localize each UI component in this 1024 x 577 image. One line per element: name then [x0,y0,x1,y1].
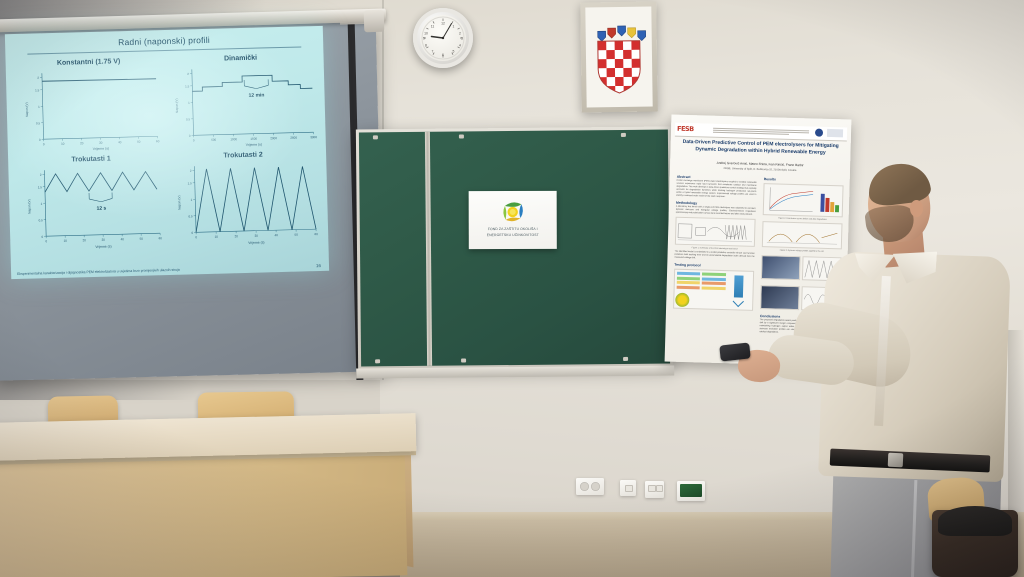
poster-methodology-text: A laboratory test bench with a single-ce… [676,206,756,217]
svg-text:60: 60 [314,232,318,236]
presenter-belt-buckle [888,453,904,468]
svg-text:10: 10 [61,142,65,146]
chart-konstantni: 0 0.5 1 1.5 2 0 10 20 30 40 50 60 Vrijem… [20,66,164,154]
clock-face: 1212 345 678 91011 [420,15,466,61]
svg-text:Vrijeme (s): Vrijeme (s) [248,240,264,244]
svg-text:0.5: 0.5 [188,214,193,218]
poster-figure-1 [675,217,756,247]
svg-text:1: 1 [453,25,455,29]
svg-text:0: 0 [193,138,195,142]
fond-text-line-2: ENERGETSKU UČINKOVITOST [469,233,557,237]
svg-text:12 s: 12 s [97,206,107,212]
svg-text:40: 40 [118,140,122,144]
svg-text:2000: 2000 [270,136,277,140]
svg-text:8: 8 [425,44,427,48]
clock-minute-hand [443,24,452,39]
svg-text:7: 7 [432,50,434,54]
svg-text:Vrijeme (s): Vrijeme (s) [246,143,262,147]
svg-text:50: 50 [137,140,141,144]
svg-text:2500: 2500 [290,136,297,140]
presenter-ear [910,200,923,217]
svg-text:0: 0 [195,235,197,239]
svg-text:1.5: 1.5 [188,181,193,185]
svg-text:6: 6 [442,53,444,57]
fond-text-line-1: FOND ZA ZAŠTITU OKOLIŠA I [469,227,557,231]
desk-front-panel [0,447,407,577]
fesb-logo: FESB [677,125,694,133]
chart-trokutasti-2: 0 0.5 1 1.5 2 0 10 20 30 40 50 60 Vrijem… [172,159,322,249]
chalkboard-divider [425,132,432,366]
svg-text:40: 40 [121,237,125,241]
svg-text:1: 1 [38,105,40,109]
svg-text:2: 2 [40,173,42,177]
green-indicator-panel[interactable] [677,481,705,501]
svg-text:1: 1 [188,101,190,105]
green-indicator-screen [680,484,702,497]
wall-clock: 1212 345 678 91011 [413,8,473,68]
svg-text:4: 4 [459,44,461,48]
svg-text:30: 30 [254,234,258,238]
screen-bracket [364,10,385,33]
chalkboard-surface: FOND ZA ZAŠTITU OKOLIŠA I ENERGETSKU UČI… [359,130,670,367]
poster-title: Data-Driven Predictive Control of PEM el… [677,139,843,157]
poster-abstract-text: Proton exchange membrane (PEM) water ele… [676,180,756,200]
double-power-socket[interactable] [576,478,604,495]
svg-text:2: 2 [190,169,192,173]
svg-text:1: 1 [41,202,43,206]
svg-text:3: 3 [461,37,463,41]
svg-text:Napon (V): Napon (V) [27,199,31,214]
svg-text:50: 50 [294,233,298,237]
svg-text:0.5: 0.5 [186,117,191,121]
svg-text:0.5: 0.5 [39,218,44,222]
single-socket[interactable] [620,480,636,496]
croatian-coat-of-arms-icon [585,7,652,108]
coat-of-arms-frame [580,1,658,112]
chalkboard: FOND ZA ZAŠTITU OKOLIŠA I ENERGETSKU UČI… [356,126,673,369]
svg-text:0: 0 [45,239,47,243]
svg-text:0: 0 [189,134,191,138]
svg-text:1.5: 1.5 [35,88,40,92]
svg-text:Vrijeme (s): Vrijeme (s) [93,147,109,151]
poster-section-testing: Testing protocol [674,263,754,269]
svg-text:20: 20 [234,234,238,238]
fond-logo-icon [500,199,526,225]
svg-text:Vrijeme (s): Vrijeme (s) [95,244,111,248]
svg-text:Napon (V): Napon (V) [177,195,181,210]
svg-text:0: 0 [191,231,193,235]
svg-text:1500: 1500 [250,137,257,141]
clock-hour-hand [432,37,444,39]
coat-of-arms-mat [585,7,652,108]
svg-text:5: 5 [453,50,455,54]
svg-text:9: 9 [423,37,425,41]
svg-text:30: 30 [99,141,103,145]
svg-text:Napon (V): Napon (V) [175,98,179,113]
presentation-clicker[interactable] [719,342,751,361]
svg-text:1.5: 1.5 [185,84,190,88]
slide-page-number: 16 [316,263,321,268]
chart-trokutasti-1: 0 0.5 1 1.5 2 0 10 20 30 40 50 60 12 s V… [22,163,166,253]
poster-column-left: Abstract Proton exchange membrane (PEM) … [673,175,757,314]
data-jack-plate[interactable] [645,481,664,498]
svg-text:500: 500 [211,138,216,142]
svg-text:60: 60 [156,139,160,143]
svg-text:3000: 3000 [310,135,317,139]
svg-text:2: 2 [187,72,189,76]
chart-dinamicki: 0 0.5 1 1.5 2 0 500 1000 1500 2000 2500 … [170,62,320,150]
svg-text:40: 40 [274,233,278,237]
waste-basket-liner [938,506,1012,536]
projected-slide: Radni (naponski) profili Konstantni (1.7… [5,26,329,279]
poster-methodology-text-2: The identified model is embedded in a mo… [674,251,754,262]
svg-text:20: 20 [80,141,84,145]
svg-text:50: 50 [140,237,144,241]
svg-text:12 min: 12 min [249,92,265,98]
svg-text:2: 2 [459,32,461,36]
svg-text:10: 10 [214,235,218,239]
svg-text:0: 0 [39,138,41,142]
svg-text:0.5: 0.5 [36,121,41,125]
svg-text:2: 2 [37,76,39,80]
svg-text:10: 10 [64,239,68,243]
svg-text:0: 0 [41,235,43,239]
fond-poster-sheet: FOND ZA ZAŠTITU OKOLIŠA I ENERGETSKU UČI… [469,191,557,249]
svg-text:60: 60 [159,236,163,240]
clock-hands-group: 1212 345 678 91011 [420,15,466,61]
svg-text:Napon (V): Napon (V) [25,102,29,117]
lecture-room-scene: Radni (naponski) profili Konstantni (1.7… [0,0,1024,577]
svg-text:11: 11 [431,25,435,29]
svg-text:1: 1 [191,198,193,202]
svg-text:0: 0 [43,142,45,146]
svg-text:10: 10 [424,32,428,36]
svg-text:1000: 1000 [230,137,237,141]
svg-text:20: 20 [83,238,87,242]
svg-text:30: 30 [102,238,106,242]
poster-partner-logo-2 [827,129,843,137]
svg-text:1.5: 1.5 [38,185,43,189]
svg-text:12: 12 [441,22,445,26]
